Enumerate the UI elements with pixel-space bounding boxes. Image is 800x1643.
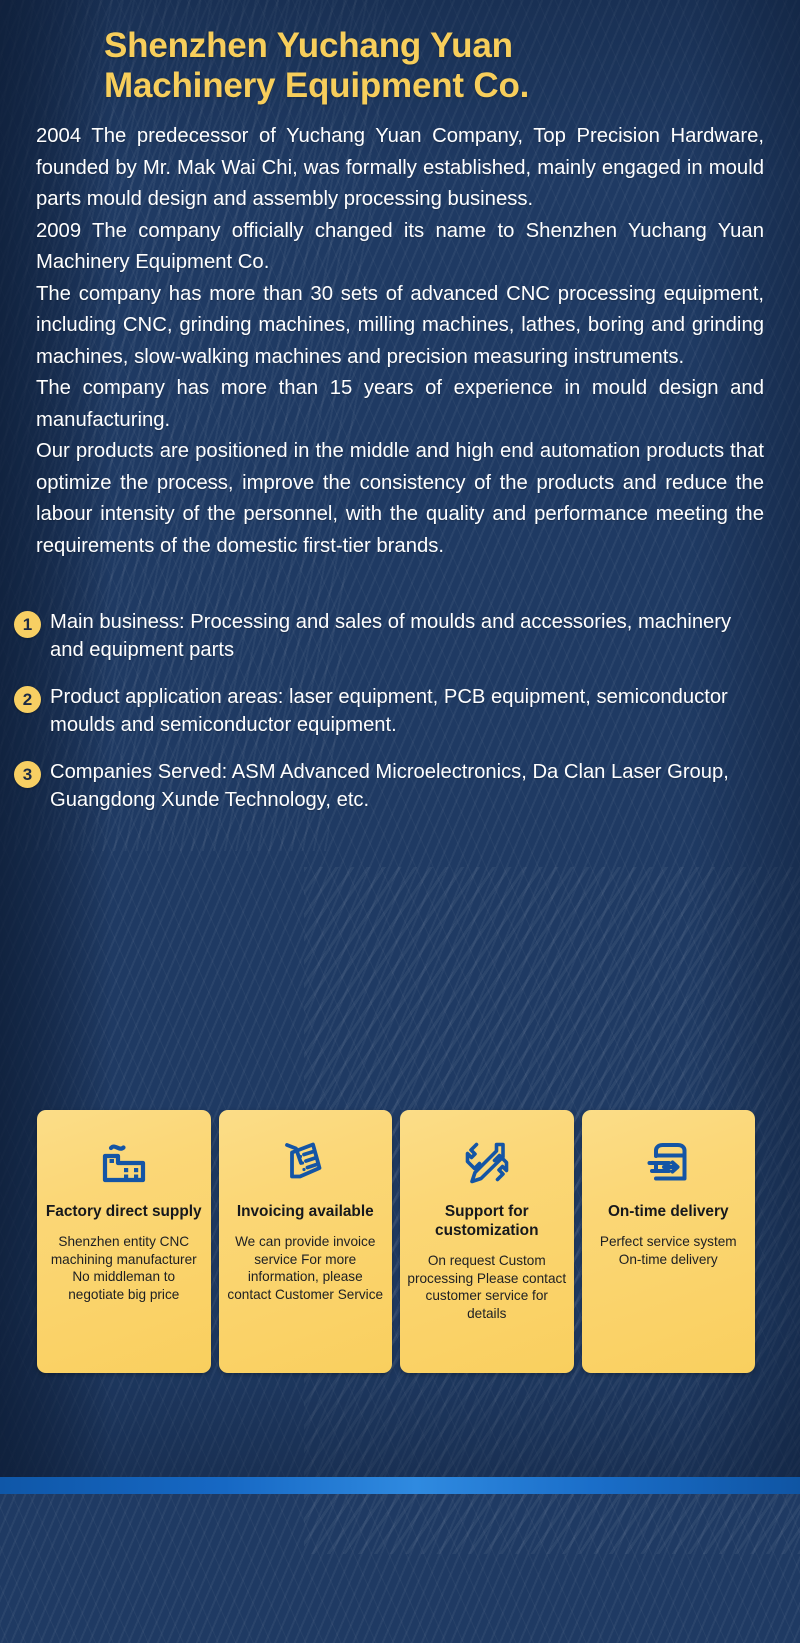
list-item: 3 Companies Served: ASM Advanced Microel… xyxy=(14,758,770,814)
feature-card-desc-1: Shenzhen entity CNC machining manufactur… xyxy=(43,1233,205,1303)
factory-icon xyxy=(98,1138,150,1186)
company-profile-page: Shenzhen Yuchang Yuan Machinery Equipmen… xyxy=(0,0,800,1494)
feature-card-desc-3: On request Custom processing Please cont… xyxy=(406,1252,568,1322)
list-item: 1 Main business: Processing and sales of… xyxy=(14,608,770,664)
list-item-text-2: Product application areas: laser equipme… xyxy=(50,683,770,739)
feature-card-factory-direct-supply[interactable]: Factory direct supply Shenzhen entity CN… xyxy=(37,1110,211,1373)
feature-card-desc-2: We can provide invoice service For more … xyxy=(225,1233,387,1303)
about-paragraph-1: 2004 The predecessor of Yuchang Yuan Com… xyxy=(36,121,764,216)
highlights-list: 1 Main business: Processing and sales of… xyxy=(0,608,800,814)
feature-card-on-time-delivery[interactable]: On-time delivery Perfect service system … xyxy=(582,1110,756,1373)
page-title: Shenzhen Yuchang Yuan Machinery Equipmen… xyxy=(0,0,800,105)
feature-card-title-3: Support for customization xyxy=(406,1202,568,1240)
list-item: 2 Product application areas: laser equip… xyxy=(14,683,770,739)
feature-card-title-1: Factory direct supply xyxy=(46,1202,202,1221)
feature-card-title-4: On-time delivery xyxy=(608,1202,729,1221)
page-title-line-1: Shenzhen Yuchang Yuan xyxy=(104,26,513,65)
about-paragraph-3: The company has more than 30 sets of adv… xyxy=(36,279,764,374)
feature-card-invoicing-available[interactable]: Invoicing available We can provide invoi… xyxy=(219,1110,393,1373)
feature-card-support-for-customization[interactable]: Support for customization On request Cus… xyxy=(400,1110,574,1373)
list-item-text-1: Main business: Processing and sales of m… xyxy=(50,608,770,664)
invoice-icon xyxy=(280,1138,330,1186)
list-item-text-3: Companies Served: ASM Advanced Microelec… xyxy=(50,758,770,814)
list-number-badge-1: 1 xyxy=(14,611,41,638)
feature-cards: Factory direct supply Shenzhen entity CN… xyxy=(37,1110,755,1373)
footer-accent-bar xyxy=(0,1477,800,1494)
about-paragraph-2: 2009 The company officially changed its … xyxy=(36,216,764,279)
about-section: 2004 The predecessor of Yuchang Yuan Com… xyxy=(0,105,800,562)
list-number-badge-2: 2 xyxy=(14,686,41,713)
feature-card-title-2: Invoicing available xyxy=(237,1202,374,1221)
list-number-badge-3: 3 xyxy=(14,761,41,788)
page-title-line-2: Machinery Equipment Co. xyxy=(104,66,764,106)
delivery-box-icon xyxy=(643,1138,693,1186)
about-paragraph-5: Our products are positioned in the middl… xyxy=(36,436,764,562)
tools-icon xyxy=(463,1138,511,1186)
feature-card-desc-4: Perfect service system On-time delivery xyxy=(588,1233,750,1268)
about-paragraph-4: The company has more than 15 years of ex… xyxy=(36,373,764,436)
